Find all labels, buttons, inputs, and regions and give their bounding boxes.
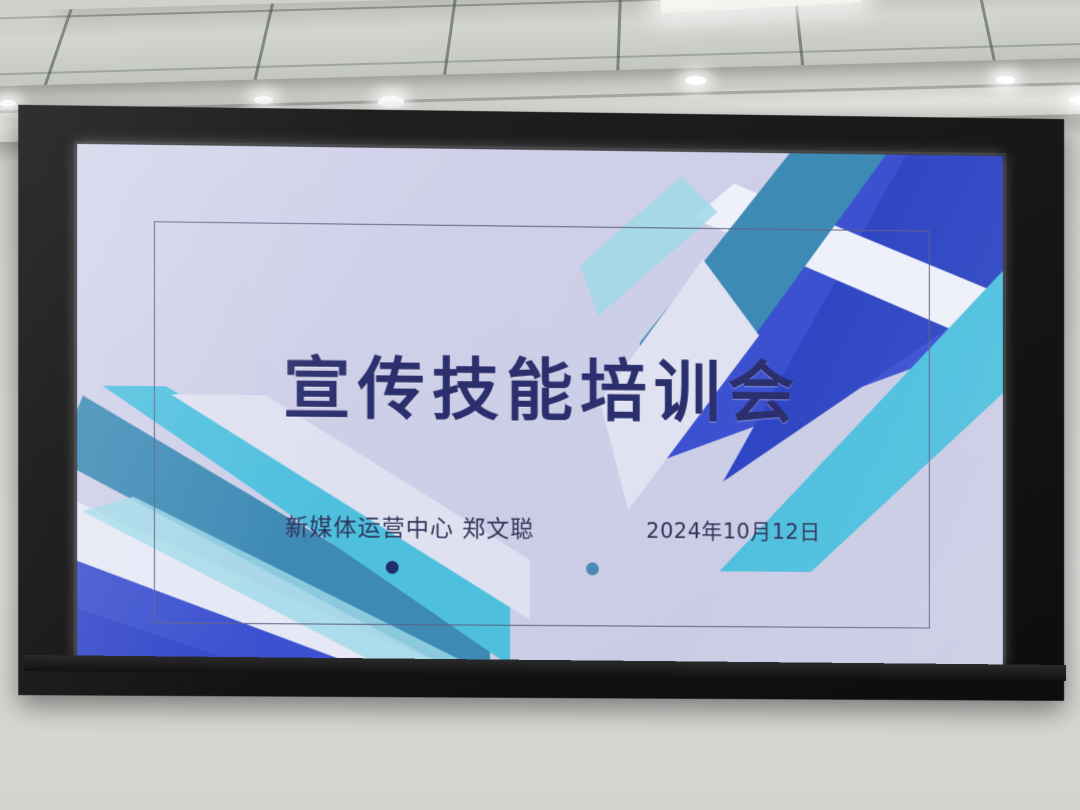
accent-dot-light-icon [586,562,599,575]
slide-presenter: 新媒体运营中心 郑文聪 [285,508,534,544]
slide-date: 2024年10月12日 [646,515,820,546]
slide-meta-row: 新媒体运营中心 郑文聪 2024年10月12日 [285,508,854,546]
conference-room-scene: 宣传技能培训会 新媒体运营中心 郑文聪 2024年10月12日 [0,0,1080,810]
recessed-downlight [685,76,706,85]
ceiling-panel-light [659,0,860,13]
recessed-downlight [996,76,1015,84]
recessed-downlight [254,96,273,104]
accent-dot-dark-icon [386,561,399,574]
recessed-downlight [378,96,404,108]
wall-mounted-display[interactable]: 宣传技能培训会 新媒体运营中心 郑文聪 2024年10月12日 [18,105,1064,701]
recessed-downlight [0,100,16,107]
presentation-slide: 宣传技能培训会 新媒体运营中心 郑文聪 2024年10月12日 [77,144,1003,665]
slide-title: 宣传技能培训会 [77,353,1003,429]
